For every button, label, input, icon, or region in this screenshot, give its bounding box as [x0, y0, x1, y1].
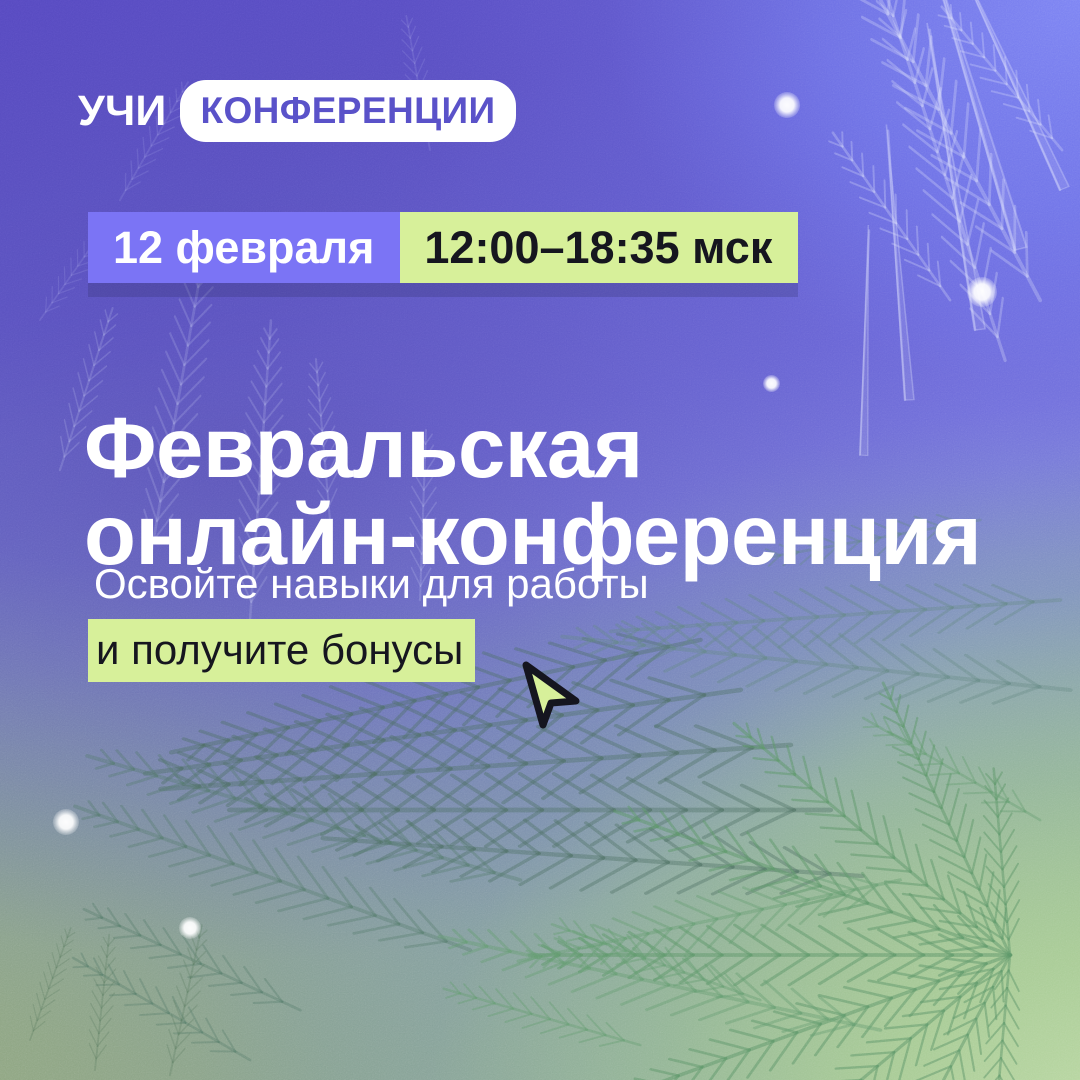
brand-logo: УЧИ КОНФЕРЕНЦИИ [78, 80, 516, 142]
headline-line-1: Февральская [84, 405, 1004, 493]
subtitle-line-1: Освойте навыки для работы [88, 563, 653, 605]
date-badge: 12 февраля [88, 212, 400, 283]
brand-pill-label: КОНФЕРЕНЦИИ [180, 80, 515, 142]
poster-content: УЧИ КОНФЕРЕНЦИИ 12 февраля 12:00–18:35 м… [0, 0, 1080, 1080]
time-badge: 12:00–18:35 мск [400, 212, 798, 283]
event-badges: 12 февраля 12:00–18:35 мск [88, 212, 798, 283]
brand-word: УЧИ [78, 90, 166, 133]
page-title: Февральская онлайн-конференция [84, 405, 1004, 580]
subtitle-line-2-highlight: и получите бонусы [88, 619, 475, 682]
pointer-arrow-cursor-icon [512, 657, 588, 733]
promo-poster: УЧИ КОНФЕРЕНЦИИ 12 февраля 12:00–18:35 м… [0, 0, 1080, 1080]
